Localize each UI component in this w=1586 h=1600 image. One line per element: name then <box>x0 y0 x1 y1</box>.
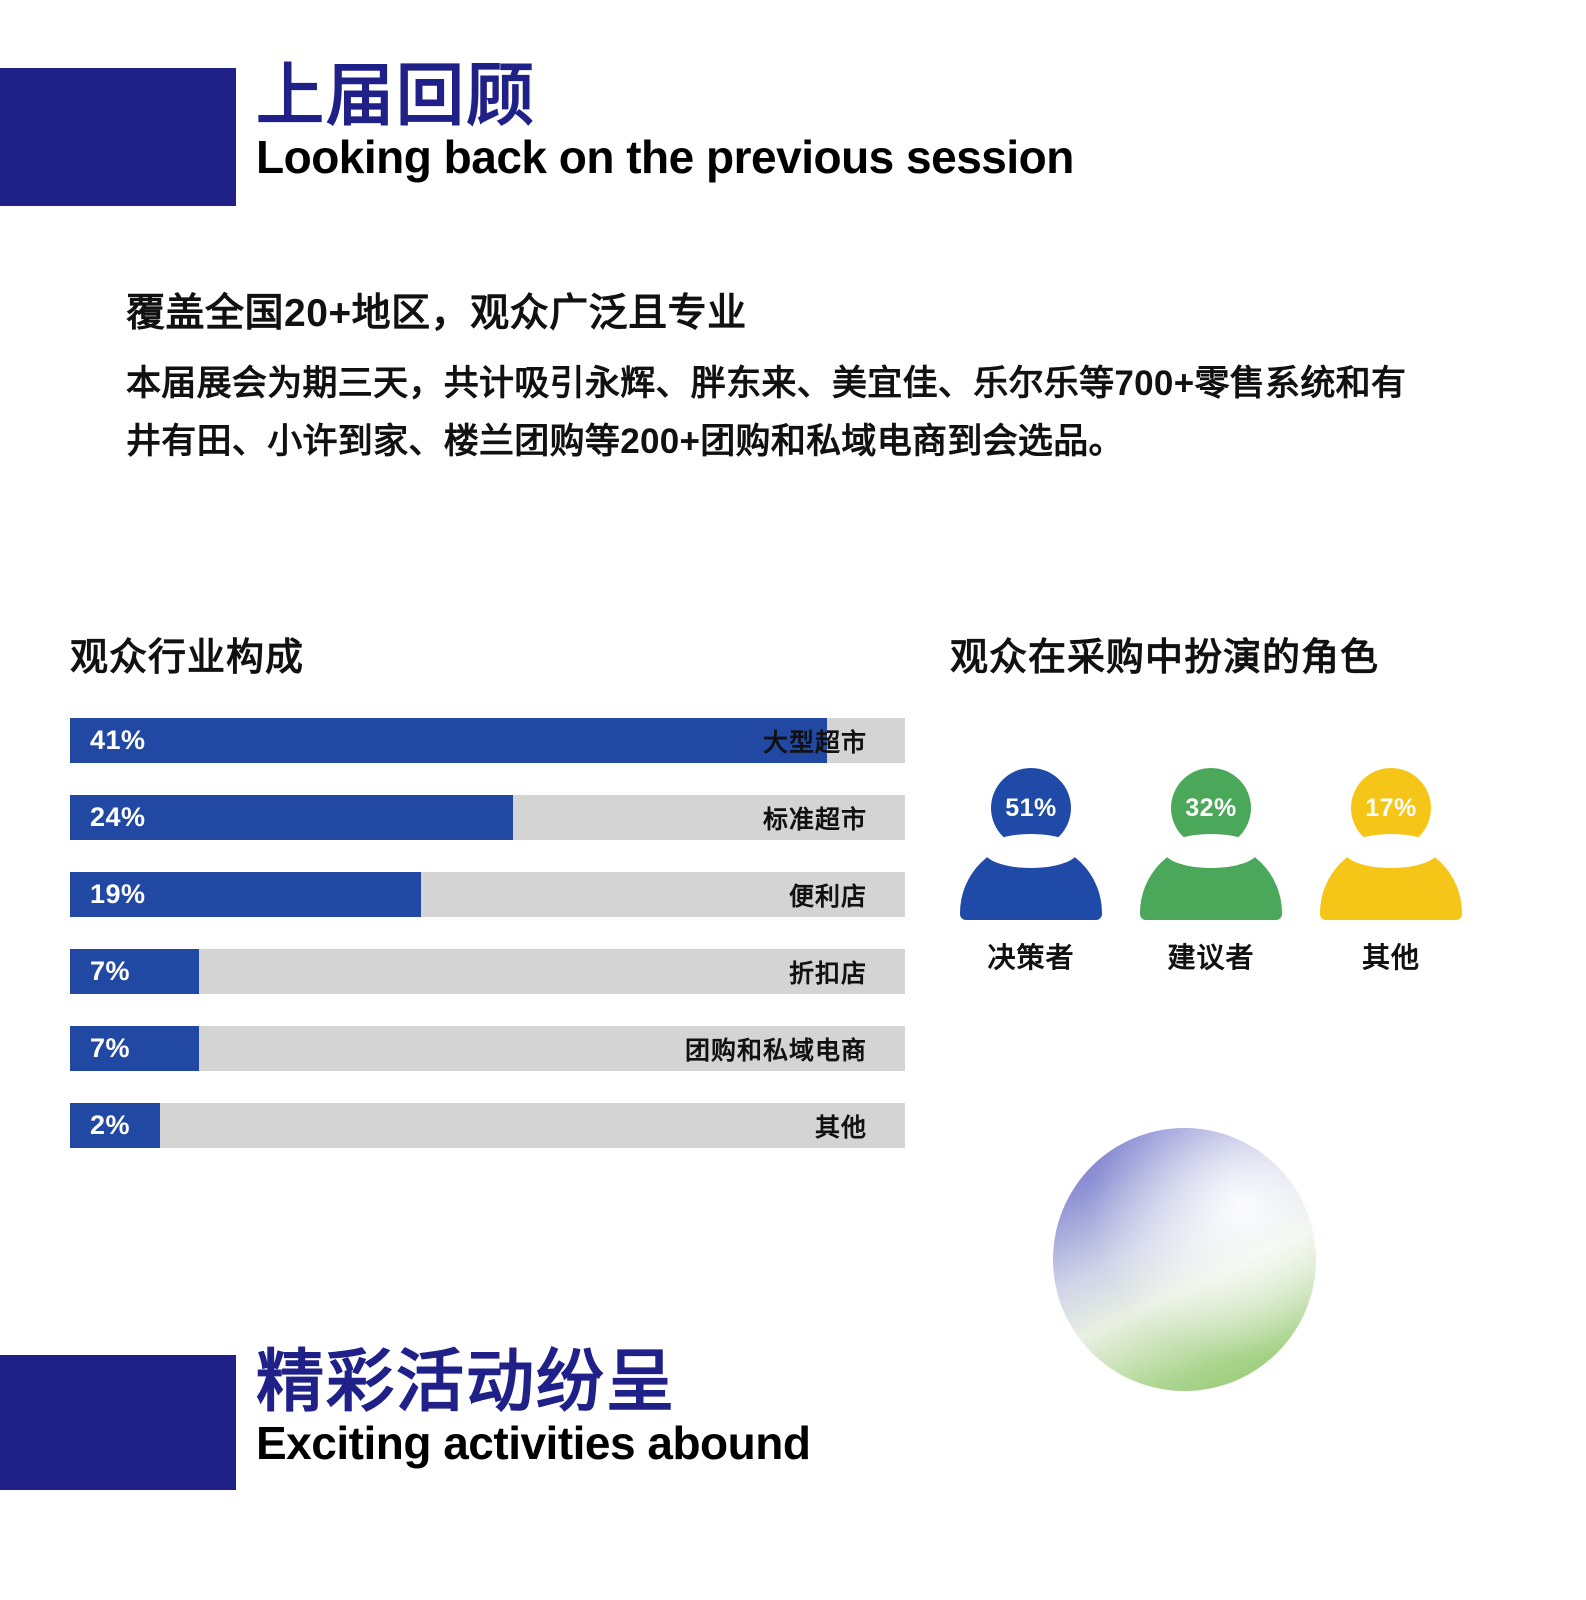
section-title-cn-top: 上届回顾 <box>256 62 1074 131</box>
section-title-cn-bottom: 精彩活动纷呈 <box>256 1348 810 1417</box>
role-item: 51%决策者 <box>960 768 1102 976</box>
header-accent-square-top <box>0 68 236 206</box>
purchase-role-chart: 51%决策者32%建议者17%其他 <box>960 768 1462 976</box>
bar-fill: 7% <box>70 1026 199 1071</box>
bar-row: 24%标准超市 <box>70 795 905 840</box>
role-name-label: 决策者 <box>987 936 1074 976</box>
person-icon: 32% <box>1140 768 1282 920</box>
section-header-bottom: 精彩活动纷呈 Exciting activities abound <box>0 1340 1586 1570</box>
bar-fill: 7% <box>70 949 199 994</box>
bar-value-label: 41% <box>70 725 146 756</box>
role-name-label: 建议者 <box>1167 936 1254 976</box>
bar-value-label: 7% <box>70 956 130 987</box>
role-name-label: 其他 <box>1362 936 1420 976</box>
person-neck-notch <box>984 834 1078 868</box>
bar-fill: 2% <box>70 1103 160 1148</box>
bar-category-label: 团购和私域电商 <box>685 1026 867 1071</box>
bar-row: 41%大型超市 <box>70 718 905 763</box>
bar-row: 19%便利店 <box>70 872 905 917</box>
role-percentage-label: 17% <box>1365 794 1417 823</box>
bar-category-label: 标准超市 <box>763 795 867 840</box>
bar-value-label: 19% <box>70 879 146 910</box>
bar-fill: 19% <box>70 872 421 917</box>
person-icon: 51% <box>960 768 1102 920</box>
person-icon: 17% <box>1320 768 1462 920</box>
section-title-en-bottom: Exciting activities abound <box>256 1419 810 1467</box>
bar-row: 7%折扣店 <box>70 949 905 994</box>
role-item: 32%建议者 <box>1140 768 1282 976</box>
bar-value-label: 2% <box>70 1110 130 1141</box>
bar-value-label: 24% <box>70 802 146 833</box>
bar-category-label: 折扣店 <box>789 949 867 994</box>
section-title-en-top: Looking back on the previous session <box>256 133 1074 181</box>
bar-fill: 24% <box>70 795 513 840</box>
intro-headline: 覆盖全国20+地区，观众广泛且专业 <box>126 282 747 338</box>
bar-value-label: 7% <box>70 1033 130 1064</box>
person-neck-notch <box>1344 834 1438 868</box>
header-accent-square-bottom <box>0 1355 236 1490</box>
bar-category-label: 便利店 <box>789 872 867 917</box>
bar-fill: 41% <box>70 718 827 763</box>
bar-row: 7%团购和私域电商 <box>70 1026 905 1071</box>
intro-body-text: 本届展会为期三天，共计吸引永辉、胖东来、美宜佳、乐尔乐等700+零售系统和有井有… <box>126 355 1426 471</box>
person-neck-notch <box>1164 834 1258 868</box>
bar-category-label: 其他 <box>815 1103 867 1148</box>
role-percentage-label: 32% <box>1185 794 1237 823</box>
section-header-top: 上届回顾 Looking back on the previous sessio… <box>0 0 1586 240</box>
bar-category-label: 大型超市 <box>763 718 867 763</box>
roles-chart-heading: 观众在采购中扮演的角色 <box>950 626 1379 681</box>
poster-page: 上届回顾 Looking back on the previous sessio… <box>0 0 1586 1600</box>
bar-chart-heading: 观众行业构成 <box>70 626 304 681</box>
role-percentage-label: 51% <box>1005 794 1057 823</box>
bar-row: 2%其他 <box>70 1103 905 1148</box>
audience-industry-bar-chart: 41%大型超市24%标准超市19%便利店7%折扣店7%团购和私域电商2%其他 <box>70 718 905 1148</box>
role-item: 17%其他 <box>1320 768 1462 976</box>
